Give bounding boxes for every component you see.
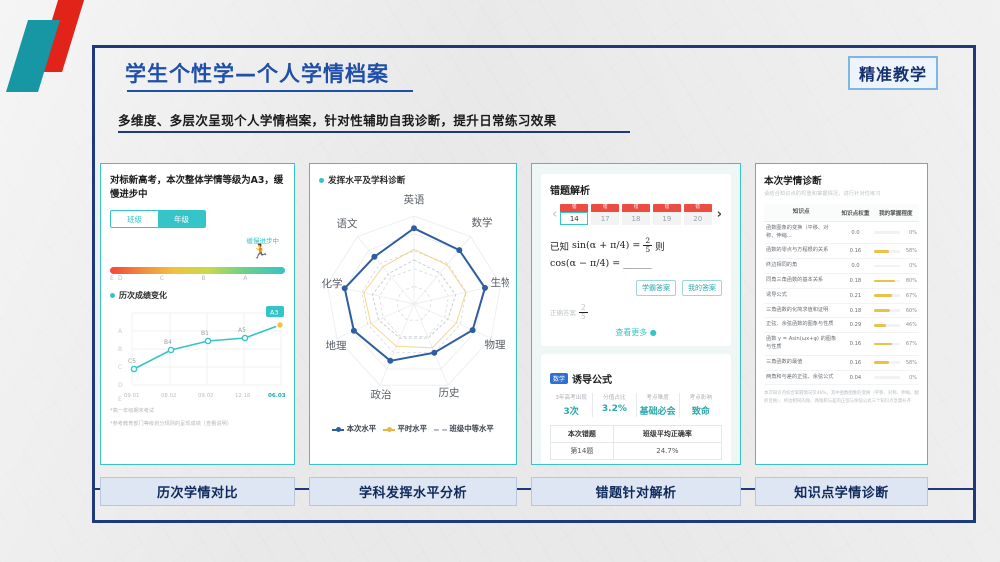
- mastery-percent: 58%: [902, 248, 917, 254]
- card2-headline: 发挥水平及学科诊断: [328, 174, 405, 186]
- kt-cell-knowledge: 函数 y = Asin(ωx+φ) 的图象与性质: [764, 333, 838, 356]
- question-tab-label: 17: [591, 212, 619, 225]
- toggle-class[interactable]: 班级: [111, 211, 158, 227]
- mastery-percent: 0%: [902, 375, 917, 381]
- question-tab-label: 20: [684, 212, 712, 225]
- table-row: 函数 y = Asin(ωx+φ) 的图象与性质0.1667%: [764, 333, 919, 356]
- mastery-percent: 58%: [902, 360, 917, 366]
- kt-cell-weight: 0.16: [838, 244, 872, 259]
- correct-answer-label: 正确答案: [550, 307, 576, 317]
- fraction-denominator: 5: [645, 246, 650, 254]
- card4-subtitle: 请结合知识点的权重和掌握情况，进行针对性练习: [764, 190, 919, 198]
- caption-history: 历次学情对比: [100, 477, 295, 506]
- legend-dot-icon: [110, 293, 115, 298]
- svg-text:12.16: 12.16: [235, 393, 251, 399]
- svg-text:数学: 数学: [472, 216, 493, 229]
- legend-line-blue-icon: [332, 429, 344, 431]
- kt-cell-knowledge: 正弦、余弦函数的图象与性质: [764, 318, 838, 333]
- kp-stat-key: 3年高考出现: [550, 393, 592, 401]
- mastery-percent: 0%: [902, 230, 917, 236]
- radar-legend: 本次水平 平时水平 班级中等水平: [319, 423, 507, 434]
- toggle-grade[interactable]: 年级: [158, 211, 205, 227]
- question-lhs: sin(α + π/4) =: [572, 240, 640, 251]
- question-tab-14[interactable]: 错 14: [560, 204, 588, 225]
- mastery-track: [874, 231, 900, 234]
- svg-text:政治: 政治: [371, 388, 392, 401]
- kt-cell-weight: 0.0: [838, 221, 872, 244]
- kt-col-knowledge: 知识点: [764, 204, 838, 221]
- subtitle-underline: [118, 131, 630, 133]
- kt-cell-weight: 0.16: [838, 333, 872, 356]
- question-text: 已知 sin(α + π/4) = 2 5 则 cos(α − π/4) = _…: [550, 237, 722, 269]
- mastery-fill: [874, 309, 889, 312]
- kt-cell-mastery: 0%: [872, 221, 919, 244]
- table-row: 三角函数的化简求值和证明0.1860%: [764, 303, 919, 318]
- caption-subject: 学科发挥水平分析: [309, 477, 517, 506]
- kt-cell-weight: 0.04: [838, 370, 872, 385]
- card4-note: 本次知识点综合掌握情况仅46%，其中函数图象的变换（平移、对称、伸缩、翻折变换）…: [764, 390, 919, 405]
- kt-cell-mastery: 60%: [872, 303, 919, 318]
- question-tab-label: 14: [560, 212, 588, 225]
- table-row: 同角三角函数的基本关系0.1880%: [764, 274, 919, 289]
- mastery-track: [874, 265, 900, 268]
- kt-cell-weight: 0.29: [838, 318, 872, 333]
- radar-chart: 英语 数学 生物 物理 历史 政治 地理 化学 语文: [319, 186, 507, 421]
- kt-cell-knowledge: 终边相同的角: [764, 259, 838, 274]
- kt-cell-weight: 0.18: [838, 274, 872, 289]
- svg-text:语文: 语文: [337, 217, 358, 230]
- table-row: 三角函数的最值0.1658%: [764, 355, 919, 370]
- kt-cell-mastery: 67%: [872, 333, 919, 356]
- svg-text:09.02: 09.02: [198, 393, 213, 399]
- knowledge-table-body: 函数图象的变换（平移、对称、伸缩...0.00%函数的零点与方程根的关系0.16…: [764, 221, 919, 385]
- svg-text:生物: 生物: [491, 276, 510, 289]
- mastery-percent: 0%: [902, 263, 917, 269]
- question-tabs[interactable]: ‹ 错 14 错 17 错 18 错 19: [550, 204, 722, 225]
- mastery-row: 80%: [874, 278, 917, 284]
- kp-col-1: 班级平均正确率: [613, 426, 721, 443]
- kp-stat-2: 考点难度 基础必会: [637, 393, 680, 417]
- question-tab-label: 19: [653, 212, 681, 225]
- caption-knowledge: 知识点学情诊断: [755, 477, 928, 506]
- svg-text:C: C: [118, 364, 122, 371]
- cards-row: 对标新高考，本次整体学情等级为A3，缓慢进步中 班级 年级 缓慢进步中 🏃 E …: [100, 163, 928, 465]
- mastery-track: [874, 324, 900, 327]
- question-prefix: 已知: [550, 239, 569, 253]
- mastery-percent: 80%: [902, 278, 917, 284]
- kp-stat-value: 致命: [680, 404, 722, 417]
- mastery-fill: [874, 250, 889, 253]
- subject-badge: 数学: [550, 373, 568, 384]
- kt-cell-knowledge: 三角函数的化简求值和证明: [764, 303, 838, 318]
- card1-footnote-1: *高一年级期末考试: [110, 407, 285, 416]
- wrong-question-panel: 错题解析 ‹ 错 14 错 17 错 18: [541, 174, 731, 346]
- mastery-row: 60%: [874, 308, 917, 314]
- kp-stat-value: 基础必会: [637, 404, 679, 417]
- kp-stat-1: 分值占比 3.2%: [593, 393, 636, 417]
- legend-line-dashed-icon: [434, 429, 447, 431]
- table-row: 诱导公式0.2167%: [764, 288, 919, 303]
- table-row: 正弦、余弦函数的图象与性质0.2946%: [764, 318, 919, 333]
- kt-cell-mastery: 80%: [872, 274, 919, 289]
- svg-text:09.01: 09.01: [124, 393, 139, 399]
- grade-tick-c: C: [160, 275, 202, 282]
- kp-cell-0: 第14题: [551, 443, 614, 460]
- svg-text:A5: A5: [238, 327, 246, 334]
- kp-stat-0: 3年高考出现 3次: [550, 393, 593, 417]
- question-rhs: cos(α − π/4) = ______: [550, 258, 652, 269]
- mastery-track: [874, 294, 900, 297]
- tab-top-bar: 错: [591, 204, 619, 212]
- correct-answer-fraction: 2 5: [579, 304, 588, 322]
- svg-text:化学: 化学: [322, 277, 343, 290]
- scope-toggle[interactable]: 班级 年级: [110, 210, 206, 228]
- grade-ticks: E D C B A: [110, 275, 285, 282]
- radar-legend-label-1: 平时水平: [398, 424, 428, 433]
- card2-headline-row: 发挥水平及学科诊断: [319, 174, 507, 186]
- kt-cell-mastery: 0%: [872, 370, 919, 385]
- grade-tick-b: B: [202, 275, 244, 282]
- title-underline: [127, 90, 413, 92]
- chevron-down-icon: ●: [650, 328, 657, 337]
- question-mid: 则: [655, 239, 665, 253]
- view-more-link[interactable]: 查看更多 ●: [550, 327, 722, 338]
- grade-gradient-bar: [110, 267, 285, 274]
- card1-headline: 对标新高考，本次整体学情等级为A3，缓慢进步中: [110, 174, 285, 201]
- question-tab-20[interactable]: 错 20: [684, 204, 712, 225]
- next-arrow-icon[interactable]: ›: [717, 207, 722, 222]
- kt-cell-knowledge: 两角和与差的正弦、余弦公式: [764, 370, 838, 385]
- card3-headline: 错题解析: [550, 182, 722, 197]
- mastery-track: [874, 376, 900, 379]
- mastery-fill: [874, 361, 889, 364]
- svg-text:06.03: 06.03: [268, 393, 286, 399]
- question-fraction: 2 5: [643, 237, 652, 255]
- mastery-row: 58%: [874, 360, 917, 366]
- svg-text:A: A: [118, 328, 123, 335]
- question-tab-17[interactable]: 错 17: [591, 204, 619, 225]
- caption-wrong-question: 错题针对解析: [531, 477, 741, 506]
- progress-indicator: 缓慢进步中 🏃: [110, 235, 285, 265]
- mastery-fill: [874, 343, 891, 346]
- kt-cell-knowledge: 诱导公式: [764, 288, 838, 303]
- card-history-comparison: 对标新高考，本次整体学情等级为A3，缓慢进步中 班级 年级 缓慢进步中 🏃 E …: [100, 163, 295, 465]
- mastery-row: 0%: [874, 263, 917, 269]
- legend-line-yellow-icon: [383, 429, 395, 431]
- kt-cell-knowledge: 函数的零点与方程根的关系: [764, 244, 838, 259]
- mastery-track: [874, 343, 900, 346]
- radar-chart-svg: 英语 数学 生物 物理 历史 政治 地理 化学 语文: [319, 186, 509, 412]
- card1-legend: 历次成绩变化: [110, 290, 285, 301]
- kp-stat-value: 3次: [550, 404, 592, 417]
- captions-row: 历次学情对比 学科发挥水平分析 错题针对解析 知识点学情诊断: [100, 477, 928, 506]
- card-knowledge-diagnosis: 本次学情诊断 请结合知识点的权重和掌握情况，进行针对性练习 知识点 知识点权重 …: [755, 163, 928, 465]
- mastery-percent: 60%: [902, 308, 917, 314]
- kt-col-mastery: 我的掌握程度: [872, 204, 919, 221]
- kt-cell-weight: 0.0: [838, 259, 872, 274]
- knowledge-table: 知识点 知识点权重 我的掌握程度 函数图象的变换（平移、对称、伸缩...0.00…: [764, 204, 919, 385]
- expert-answer-button[interactable]: 学霸答案: [636, 280, 676, 296]
- radar-legend-label-0: 本次水平: [347, 424, 377, 433]
- mastery-track: [874, 250, 900, 253]
- tab-top-bar: 错: [684, 204, 712, 212]
- mastery-percent: 46%: [902, 322, 917, 328]
- kp-head: 数学 诱导公式: [550, 371, 722, 386]
- kp-stats: 3年高考出现 3次 分值占比 3.2% 考点难度 基础必会 考点影响 致命: [550, 393, 722, 417]
- kp-stat-key: 考点影响: [680, 393, 722, 401]
- kt-cell-knowledge: 同角三角函数的基本关系: [764, 274, 838, 289]
- svg-text:D: D: [118, 382, 123, 389]
- tab-top-bar: 错: [653, 204, 681, 212]
- score-trend-svg: A B C D E C5 B4 B1: [110, 305, 286, 403]
- svg-text:08.02: 08.02: [161, 393, 176, 399]
- question-tab-18[interactable]: 错 18: [622, 204, 650, 225]
- table-header-row: 本次错题 班级平均正确率: [551, 426, 722, 443]
- kp-stat-value: 3.2%: [593, 404, 635, 414]
- legend-dot-icon: [319, 178, 324, 183]
- card1-footnote-2: *参考教育部门等级划分规则的呈现成绩（查看说明）: [110, 420, 285, 429]
- fraction-denominator: 5: [581, 313, 586, 321]
- status-badge: 精准教学: [848, 56, 938, 90]
- question-tab-label: 18: [622, 212, 650, 225]
- grade-tick-d: D: [118, 275, 160, 282]
- table-row: 第14题 24.7%: [551, 443, 722, 460]
- kp-title: 诱导公式: [572, 371, 612, 386]
- kt-cell-mastery: 58%: [872, 355, 919, 370]
- kt-cell-knowledge: 三角函数的最值: [764, 355, 838, 370]
- svg-text:B1: B1: [201, 330, 209, 337]
- tab-top-bar: 错: [560, 204, 588, 212]
- kt-cell-weight: 0.18: [838, 303, 872, 318]
- question-tab-19[interactable]: 错 19: [653, 204, 681, 225]
- mastery-track: [874, 280, 900, 283]
- mastery-row: 67%: [874, 293, 917, 299]
- table-row: 函数图象的变换（平移、对称、伸缩...0.00%: [764, 221, 919, 244]
- svg-text:A3: A3: [270, 309, 278, 317]
- mastery-row: 58%: [874, 248, 917, 254]
- kt-col-weight: 知识点权重: [838, 204, 872, 221]
- mastery-fill: [874, 294, 891, 297]
- kt-cell-mastery: 0%: [872, 259, 919, 274]
- prev-arrow-icon[interactable]: ‹: [552, 207, 557, 222]
- svg-text:C5: C5: [128, 358, 136, 365]
- table-header-row: 知识点 知识点权重 我的掌握程度: [764, 204, 919, 221]
- kt-cell-mastery: 58%: [872, 244, 919, 259]
- mastery-row: 67%: [874, 341, 917, 347]
- card-subject-radar: 发挥水平及学科诊断: [309, 163, 517, 465]
- table-row: 两角和与差的正弦、余弦公式0.040%: [764, 370, 919, 385]
- mastery-track: [874, 309, 900, 312]
- score-trend-chart: A B C D E C5 B4 B1: [110, 305, 285, 403]
- kp-stat-3: 考点影响 致命: [680, 393, 722, 417]
- kt-cell-mastery: 46%: [872, 318, 919, 333]
- radar-legend-item-usual: 平时水平: [383, 423, 427, 434]
- svg-text:历史: 历史: [439, 387, 460, 399]
- kt-cell-weight: 0.16: [838, 355, 872, 370]
- mastery-track: [874, 361, 900, 364]
- correct-answer-row: 正确答案 2 5: [550, 304, 722, 322]
- kt-cell-mastery: 67%: [872, 288, 919, 303]
- runner-icon: 🏃: [252, 245, 269, 259]
- mastery-fill: [874, 280, 894, 283]
- radar-legend-item-current: 本次水平: [332, 423, 376, 434]
- view-more-label: 查看更多: [615, 328, 647, 337]
- kt-cell-weight: 0.21: [838, 288, 872, 303]
- card-wrong-question-analysis: 错题解析 ‹ 错 14 错 17 错 18: [531, 163, 741, 465]
- kp-cell-1: 24.7%: [613, 443, 721, 460]
- mastery-percent: 67%: [902, 293, 917, 299]
- my-answer-button[interactable]: 我的答案: [682, 280, 722, 296]
- mastery-row: 0%: [874, 230, 917, 236]
- grade-tick-a: A: [243, 275, 285, 282]
- svg-text:B4: B4: [164, 339, 172, 346]
- svg-text:B: B: [118, 346, 122, 353]
- page-title: 学生个性学—个人学情档案: [125, 58, 389, 88]
- knowledge-point-panel: 数学 诱导公式 3年高考出现 3次 分值占比 3.2% 考点难度 基础必会: [541, 354, 731, 465]
- radar-legend-label-2: 班级中等水平: [449, 424, 493, 433]
- answer-buttons: 学霸答案 我的答案: [550, 280, 722, 296]
- kt-cell-knowledge: 函数图象的变换（平移、对称、伸缩...: [764, 221, 838, 244]
- tab-top-bar: 错: [622, 204, 650, 212]
- card1-legend-label: 历次成绩变化: [119, 290, 167, 301]
- mastery-row: 46%: [874, 322, 917, 328]
- mastery-row: 0%: [874, 375, 917, 381]
- card4-headline: 本次学情诊断: [764, 173, 919, 187]
- svg-text:E: E: [118, 396, 122, 403]
- svg-text:英语: 英语: [404, 193, 425, 206]
- page-subtitle: 多维度、多层次呈现个人学情档案，针对性辅助自我诊断，提升日常练习效果: [118, 110, 557, 129]
- table-row: 终边相同的角0.00%: [764, 259, 919, 274]
- svg-text:物理: 物理: [485, 338, 506, 351]
- radar-legend-item-class: 班级中等水平: [434, 423, 494, 434]
- kp-col-0: 本次错题: [551, 426, 614, 443]
- mastery-percent: 67%: [902, 341, 917, 347]
- svg-text:地理: 地理: [326, 339, 347, 352]
- grade-tick-e: E: [110, 275, 118, 282]
- kp-stat-key: 考点难度: [637, 393, 679, 401]
- table-row: 函数的零点与方程根的关系0.1658%: [764, 244, 919, 259]
- mastery-fill: [874, 324, 886, 327]
- kp-table: 本次错题 班级平均正确率 第14题 24.7%: [550, 425, 722, 460]
- kp-stat-key: 分值占比: [593, 393, 635, 401]
